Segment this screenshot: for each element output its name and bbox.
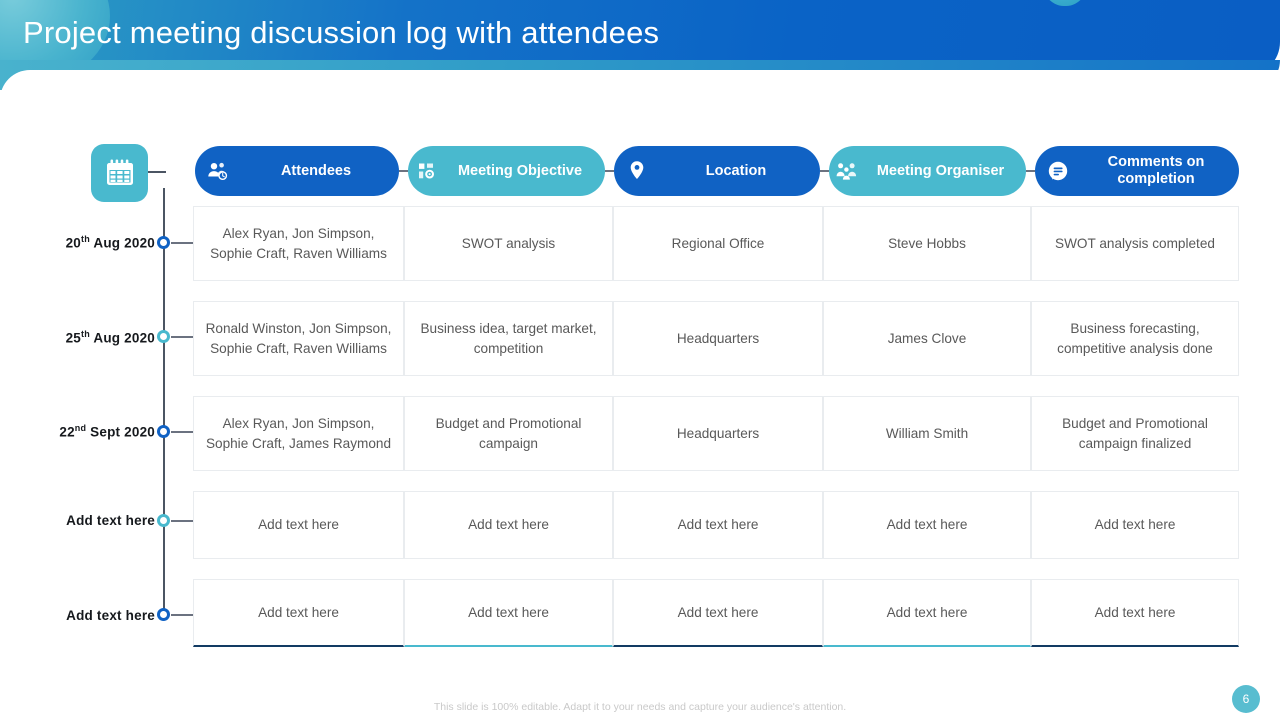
table-row: Ronald Winston, Jon Simpson, Sophie Craf…	[193, 301, 1239, 376]
timeline-arm-5	[171, 614, 195, 616]
table-cell[interactable]: Headquarters	[613, 301, 823, 376]
column-header-comments-on-completion[interactable]: Comments on completion	[1035, 146, 1239, 196]
date-number: 25	[66, 331, 81, 346]
column-header-label: Meeting Organiser	[863, 163, 1026, 180]
calendar-icon	[105, 159, 135, 187]
organiser-people-icon	[829, 161, 863, 181]
column-header-label: Meeting Objective	[443, 163, 605, 180]
table-row: Add text here Add text here Add text her…	[193, 579, 1239, 647]
date-rest: Add text here	[66, 608, 155, 623]
table-row: Alex Ryan, Jon Simpson, Sophie Craft, Ja…	[193, 396, 1239, 471]
table-cell[interactable]: Add text here	[193, 579, 404, 647]
table-cell[interactable]: William Smith	[823, 396, 1031, 471]
date-number: 20	[66, 236, 81, 251]
column-header-label: Location	[660, 163, 820, 180]
column-header-meeting-objective[interactable]: Meeting Objective	[408, 146, 605, 196]
column-header-label: Comments on completion	[1081, 154, 1239, 187]
table-cell[interactable]: Add text here	[193, 491, 404, 559]
date-label-row-1: 20th Aug 2020	[15, 234, 155, 251]
column-header-meeting-organiser[interactable]: Meeting Organiser	[829, 146, 1026, 196]
table-cell[interactable]: Add text here	[1031, 491, 1239, 559]
header-white-curve	[0, 70, 1280, 114]
table-cell[interactable]: Headquarters	[613, 396, 823, 471]
timeline-arm-2	[171, 336, 195, 338]
timeline-marker-4[interactable]	[157, 514, 170, 527]
column-header-label: Attendees	[241, 163, 399, 180]
table-cell[interactable]: Alex Ryan, Jon Simpson, Sophie Craft, Ra…	[193, 206, 404, 281]
decorative-blob-right	[1040, 0, 1090, 6]
timeline-arm-3	[171, 431, 195, 433]
date-suffix: nd	[75, 423, 86, 433]
pill-connector-1	[399, 170, 408, 172]
comment-bubble-icon	[1035, 161, 1081, 182]
column-header-location[interactable]: Location	[614, 146, 820, 196]
date-suffix: th	[81, 234, 90, 244]
editable-note: This slide is 100% editable. Adapt it to…	[0, 701, 1280, 713]
table-cell[interactable]: Add text here	[613, 491, 823, 559]
table-cell[interactable]: SWOT analysis	[404, 206, 613, 281]
timeline-marker-1[interactable]	[157, 236, 170, 249]
table-cell[interactable]: James Clove	[823, 301, 1031, 376]
timeline-marker-3[interactable]	[157, 425, 170, 438]
table-cell[interactable]: Add text here	[823, 491, 1031, 559]
date-label-row-3: 22nd Sept 2020	[15, 423, 155, 440]
map-pin-icon	[614, 160, 660, 182]
table-cell[interactable]: Budget and Promotional campaign	[404, 396, 613, 471]
calendar-icon-box	[91, 144, 148, 202]
date-rest: Aug 2020	[93, 331, 155, 346]
page-title: Project meeting discussion log with atte…	[23, 15, 659, 51]
date-number: 22	[59, 425, 74, 440]
table-cell[interactable]: Alex Ryan, Jon Simpson, Sophie Craft, Ja…	[193, 396, 404, 471]
date-label-row-2: 25th Aug 2020	[15, 329, 155, 346]
table-cell[interactable]: SWOT analysis completed	[1031, 206, 1239, 281]
table-cell[interactable]: Regional Office	[613, 206, 823, 281]
timeline-marker-2[interactable]	[157, 330, 170, 343]
timeline-rail	[163, 188, 165, 620]
timeline-marker-5[interactable]	[157, 608, 170, 621]
date-label-row-4: Add text here	[15, 513, 155, 528]
date-rest: Add text here	[66, 513, 155, 528]
pill-connector-3	[820, 170, 829, 172]
meeting-log-table: Alex Ryan, Jon Simpson, Sophie Craft, Ra…	[193, 206, 1239, 667]
table-cell[interactable]: Add text here	[404, 579, 613, 647]
table-cell[interactable]: Add text here	[1031, 579, 1239, 647]
table-cell[interactable]: Add text here	[404, 491, 613, 559]
page-number-badge: 6	[1232, 685, 1260, 713]
table-row: Add text here Add text here Add text her…	[193, 491, 1239, 559]
calendar-connector	[148, 171, 166, 173]
table-cell[interactable]: Add text here	[613, 579, 823, 647]
attendees-group-icon	[195, 161, 241, 181]
objective-target-icon	[408, 161, 443, 181]
table-cell[interactable]: Ronald Winston, Jon Simpson, Sophie Craf…	[193, 301, 404, 376]
timeline-arm-1	[171, 242, 195, 244]
column-header-attendees[interactable]: Attendees	[195, 146, 399, 196]
pill-connector-2	[605, 170, 614, 172]
timeline-arm-4	[171, 520, 195, 522]
date-suffix: th	[81, 329, 90, 339]
date-rest: Sept 2020	[90, 425, 155, 440]
table-cell[interactable]: Budget and Promotional campaign finalize…	[1031, 396, 1239, 471]
slide: Project meeting discussion log with atte…	[0, 0, 1280, 720]
date-rest: Aug 2020	[93, 236, 155, 251]
table-cell[interactable]: Business idea, target market, competitio…	[404, 301, 613, 376]
table-row: Alex Ryan, Jon Simpson, Sophie Craft, Ra…	[193, 206, 1239, 281]
table-cell[interactable]: Business forecasting, competitive analys…	[1031, 301, 1239, 376]
date-label-row-5: Add text here	[15, 608, 155, 623]
table-cell[interactable]: Add text here	[823, 579, 1031, 647]
table-cell[interactable]: Steve Hobbs	[823, 206, 1031, 281]
pill-connector-4	[1026, 170, 1035, 172]
